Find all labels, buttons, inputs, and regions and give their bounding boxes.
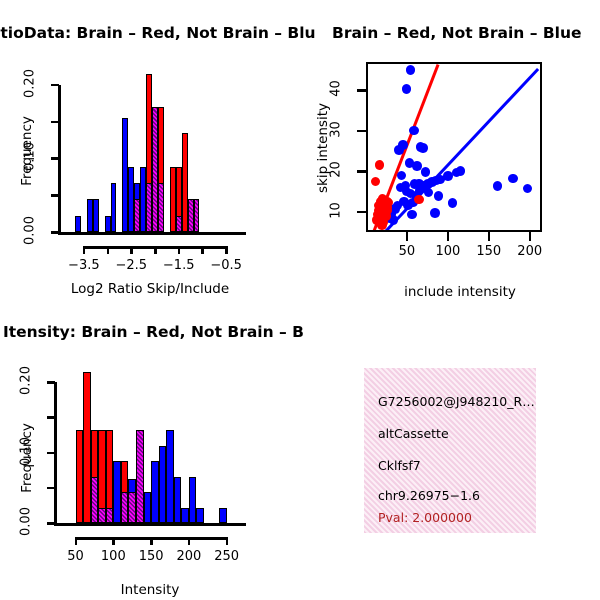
histogram-bar [174,477,182,524]
scatter-xlabel: include intensity [370,284,550,300]
intensity-histogram-xlabel: Intensity [75,582,225,598]
y-axis-tick-label: 0.20 [19,361,34,401]
scatter-y-tick-label: 10 [329,190,344,230]
scatter-point [493,181,503,191]
x-axis-tick [178,246,181,254]
histogram-bar [194,199,200,232]
scatter-frame [366,62,542,232]
scatter-point [418,143,428,153]
scatter-x-tick [529,232,532,241]
scatter-point [375,160,385,170]
x-axis-tick [112,537,115,545]
x-axis-tick [75,537,78,545]
y-axis-tick [51,84,59,87]
histogram-bar [134,199,140,232]
scatter-y-tick [357,170,366,173]
histogram-bar [83,372,91,523]
scatter-point [371,177,381,187]
y-axis-tick [47,487,55,490]
scatter-y-tick [357,130,366,133]
scatter-point [448,198,458,208]
histogram-bar [128,492,136,523]
y-axis-tick-label: 0.10 [23,137,38,177]
scatter-point [508,174,518,184]
scatter-point [394,145,404,155]
x-axis-tick [188,537,191,545]
y-axis-tick [51,194,59,197]
info-line-gene: Cklfsf7 [378,458,421,473]
histogram-bar [136,430,144,523]
scatter-point [430,208,440,218]
x-axis-tick [226,537,229,545]
x-axis-tick [130,246,133,254]
scatter-y-tick-label: 20 [329,150,344,190]
scatter-point [434,191,444,201]
y-axis-tick [47,452,55,455]
histogram-baseline [58,232,246,235]
histogram-bar [106,508,114,524]
panel-ratio-histogram: RatioData: Brain – Red, Not Brain – Blu … [0,0,300,310]
histogram-bar [93,199,99,232]
intensity-histogram-plot-area: 0.000.100.2050100150200250 [0,310,300,580]
histogram-bar [196,508,204,524]
x-axis-tick-label: −3.5 [59,258,109,273]
scatter-point [414,195,424,205]
histogram-bar [158,183,164,232]
scatter-y-tick-label: 40 [329,69,344,109]
y-axis-tick [47,522,55,525]
scatter-point [382,197,392,207]
y-axis-tick [51,231,59,234]
histogram-bar [144,492,152,523]
y-axis-tick [51,157,59,160]
scatter-point [421,167,431,177]
scatter-y-tick-label: 30 [329,109,344,149]
scatter-point [523,184,533,194]
scatter-point [409,126,419,136]
scatter-point [424,188,434,198]
info-line-probe: G7256002@J948210_R… [378,394,535,409]
x-axis-tick [201,246,204,254]
y-axis-tick [47,416,55,419]
scatter-point [377,220,387,230]
scatter-point [402,84,412,94]
histogram-bar [113,461,121,523]
y-axis-tick-label: 0.00 [19,502,34,542]
y-axis-tick-label: 0.10 [19,431,34,471]
histogram-bar [159,446,167,524]
histogram-bar [75,216,81,232]
scatter-point [406,65,416,75]
scatter-x-tick [406,232,409,241]
histogram-bar [76,430,84,523]
x-axis-tick [107,246,110,254]
scatter-point [397,171,407,181]
x-axis-tick [150,537,153,545]
ratio-histogram-plot-area: 0.000.100.20−3.5−2.5−1.5−0.5 [0,0,300,280]
x-axis-tick-label: 250 [202,549,252,564]
scatter-point [456,166,466,176]
histogram-bar [91,477,99,524]
info-box: G7256002@J948210_R… altCassette Cklfsf7 … [364,368,536,533]
histogram-bar [121,492,129,523]
x-axis-tick [225,246,228,254]
histogram-bar [181,508,189,524]
histogram-bar [111,183,117,232]
scatter-y-tick [357,89,366,92]
histogram-bar [151,461,159,523]
histogram-baseline [54,523,246,526]
x-axis-tick-label: −1.5 [154,258,204,273]
ratio-histogram-xlabel: Log2 Ratio Skip/Include [60,281,240,297]
scatter-y-tick [357,211,366,214]
panel-intensity-histogram: ne Itensity: Brain – Red, Not Brain – B … [0,310,300,600]
y-axis-tick [47,381,55,384]
scatter-x-tick [488,232,491,241]
info-line-pval: Pval: 2.000000 [378,510,472,525]
panel-info: G7256002@J948210_R… altCassette Cklfsf7 … [300,310,600,600]
y-axis-tick-label: 0.00 [23,211,38,251]
y-axis-tick [51,121,59,124]
y-axis-tick-label: 0.20 [23,63,38,103]
x-axis-tick [83,246,86,254]
histogram-bar [219,508,227,524]
panel-scatter: Brain – Red, Not Brain – Blue skip inten… [300,0,600,310]
info-line-locus: chr9.26975−1.6 [378,488,480,503]
histogram-bar [166,430,174,523]
scatter-x-tick [447,232,450,241]
info-line-event-type: altCassette [378,426,449,441]
scatter-plot-area: 1020304050100150200 [300,0,600,280]
x-axis-tick-label: −0.5 [201,258,251,273]
histogram-bar [176,216,182,232]
histogram-bar [98,508,106,524]
histogram-bar [189,477,197,524]
x-axis-tick-label: −2.5 [106,258,156,273]
scatter-point [407,210,417,220]
scatter-x-tick-label: 200 [505,244,555,259]
x-axis-tick [154,246,157,254]
